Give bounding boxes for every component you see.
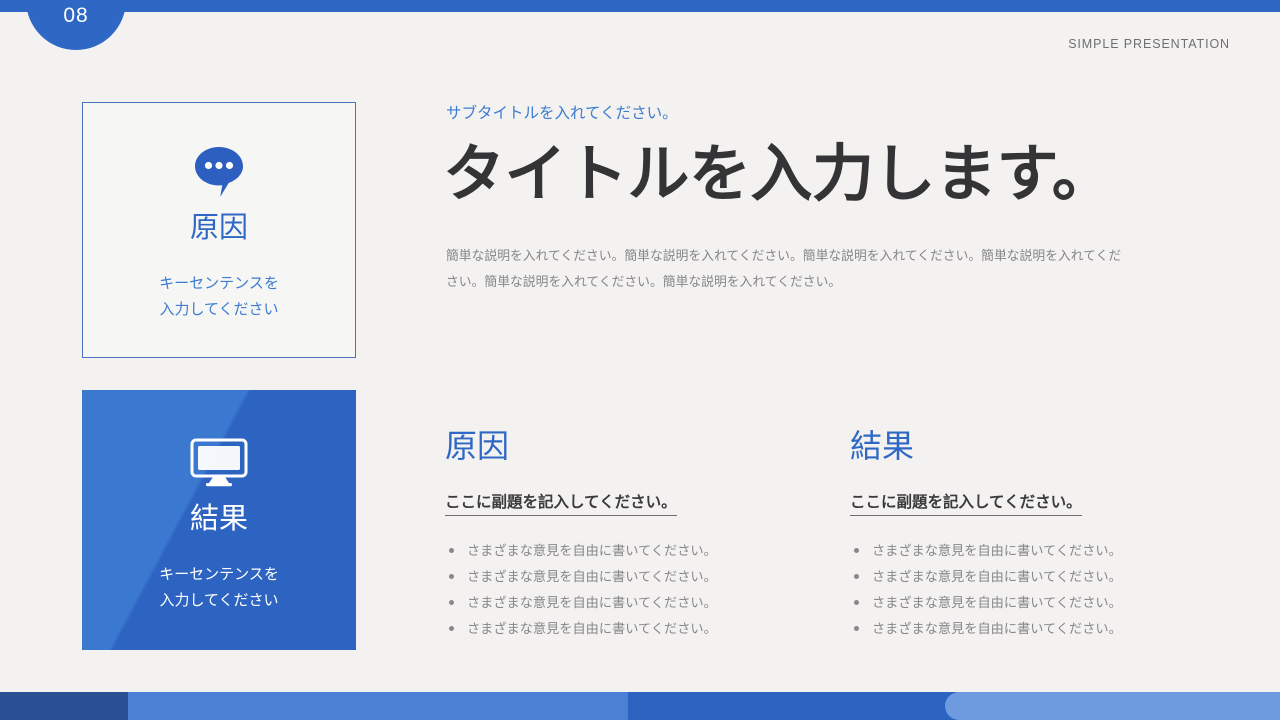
bottom-decorative-bar <box>0 692 1280 720</box>
list-item: さまざまな意見を自由に書いてください。 <box>445 616 805 642</box>
page-number: 08 <box>63 4 88 28</box>
card-cause-subtitle: キーセンテンスを 入力してください <box>159 271 279 323</box>
column-cause-heading: 原因 <box>445 430 805 462</box>
list-item: さまざまな意見を自由に書いてください。 <box>445 564 805 590</box>
card-result-subtitle-line2: 入力してください <box>159 588 279 614</box>
bottom-bar-segment-light <box>945 692 1280 720</box>
card-result[interactable]: 結果 キーセンテンスを 入力してください <box>82 390 356 650</box>
column-cause-subheading: ここに副題を記入してください。 <box>445 490 677 516</box>
bottom-bar-segment-medium <box>128 692 628 720</box>
column-result-bullet-list: さまざまな意見を自由に書いてください。 さまざまな意見を自由に書いてください。 … <box>850 538 1210 642</box>
card-result-subtitle: キーセンテンスを 入力してください <box>159 562 279 614</box>
list-item: さまざまな意見を自由に書いてください。 <box>445 538 805 564</box>
page-number-badge: 08 <box>26 0 126 50</box>
slide-title: タイトルを入力します。 <box>443 141 1113 209</box>
column-cause: 原因 ここに副題を記入してください。 さまざまな意見を自由に書いてください。 さ… <box>445 430 805 642</box>
column-result-heading: 結果 <box>850 430 1210 462</box>
card-cause-subtitle-line1: キーセンテンスを <box>159 271 279 297</box>
list-item: さまざまな意見を自由に書いてください。 <box>850 590 1210 616</box>
card-result-subtitle-line1: キーセンテンスを <box>159 562 279 588</box>
slide-body-text: 簡単な説明を入れてください。簡単な説明を入れてください。簡単な説明を入れてくださ… <box>446 243 1126 295</box>
card-cause-subtitle-line2: 入力してください <box>159 297 279 323</box>
list-item: さまざまな意見を自由に書いてください。 <box>445 590 805 616</box>
list-item: さまざまな意見を自由に書いてください。 <box>850 564 1210 590</box>
bottom-bar-segment-deep <box>628 692 958 720</box>
presentation-title-label: SIMPLE PRESENTATION <box>1068 37 1230 51</box>
list-item: さまざまな意見を自由に書いてください。 <box>850 616 1210 642</box>
monitor-icon <box>189 432 249 494</box>
list-item: さまざまな意見を自由に書いてください。 <box>850 538 1210 564</box>
top-decorative-bar <box>0 0 1280 12</box>
card-cause[interactable]: 原因 キーセンテンスを 入力してください <box>82 102 356 358</box>
speech-bubble-dots-icon <box>191 141 247 203</box>
slide-subtitle: サブタイトルを入れてください。 <box>446 101 678 123</box>
column-result: 結果 ここに副題を記入してください。 さまざまな意見を自由に書いてください。 さ… <box>850 430 1210 642</box>
bottom-bar-segment-navy <box>0 692 128 720</box>
column-cause-bullet-list: さまざまな意見を自由に書いてください。 さまざまな意見を自由に書いてください。 … <box>445 538 805 642</box>
card-cause-title: 原因 <box>190 213 248 245</box>
column-result-subheading: ここに副題を記入してください。 <box>850 490 1082 516</box>
card-result-title: 結果 <box>190 504 248 536</box>
